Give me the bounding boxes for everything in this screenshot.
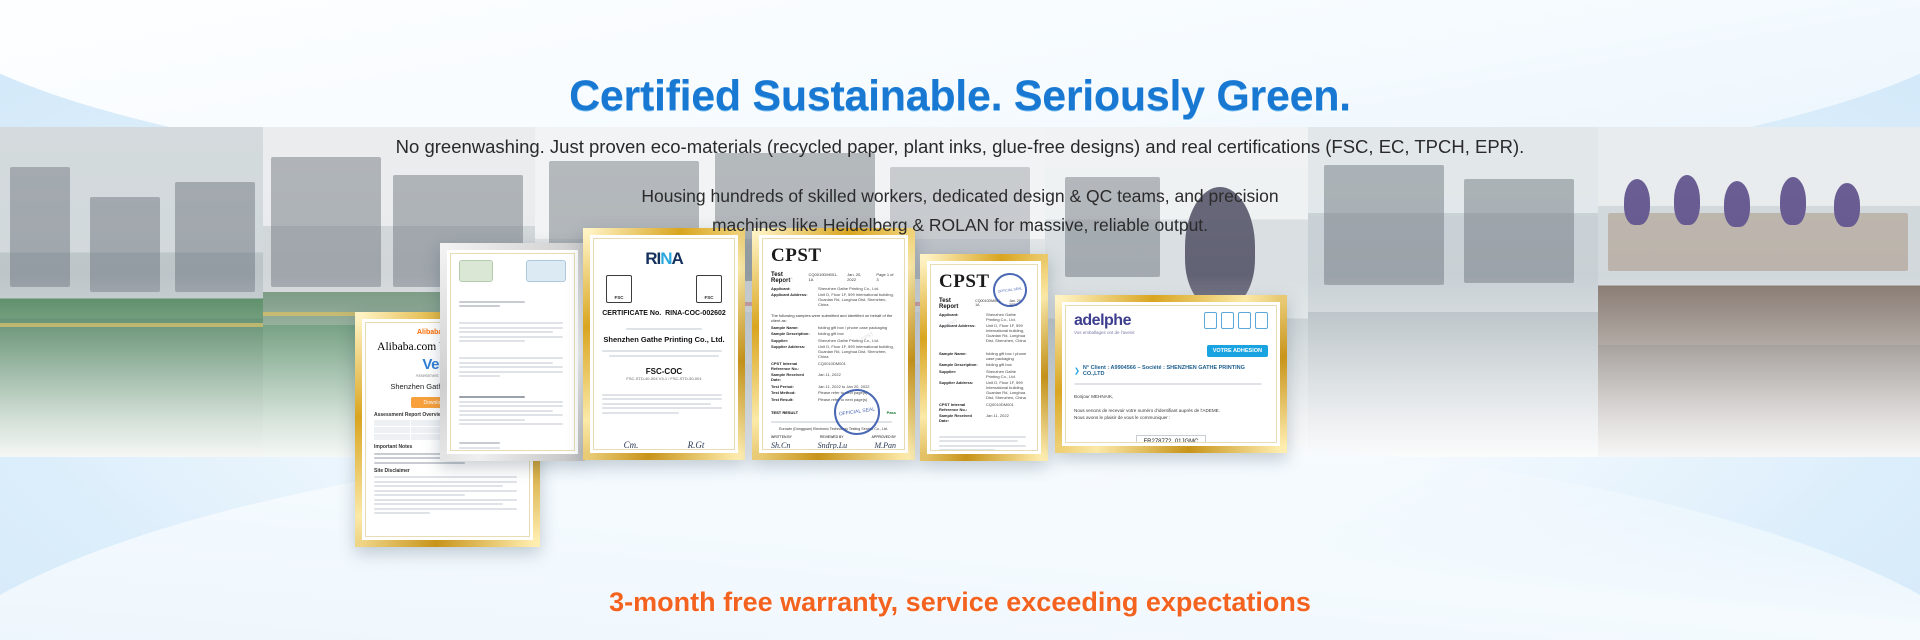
eco-badge-latis xyxy=(459,260,493,282)
adelphe-packaging-icons xyxy=(1204,312,1268,329)
hero-banner: Alibaba.com 1688 Alibaba.com Verified Su… xyxy=(0,0,1920,640)
warranty-banner-text: 3-month free warranty, service exceeding… xyxy=(0,587,1920,618)
cpst-signature-1: Sh.Cn xyxy=(771,441,790,450)
cpst-field-label: Supplier: xyxy=(771,338,815,343)
cpst-intro-1: The following samples were submitted and… xyxy=(771,313,896,323)
page-headline: Certified Sustainable. Seriously Green. xyxy=(0,72,1920,121)
certificate-cpst-test-report-1[interactable]: CPST Test Report CQ0010DM001-1A Jan. 20,… xyxy=(752,228,915,460)
rina-scheme-label: FSC-COC xyxy=(602,367,726,376)
fsc-mark-left: FSC xyxy=(606,275,632,303)
adelphe-reference-number: FR278772_01JGMC xyxy=(1136,435,1205,444)
cpst-field-label: Applicant Address: xyxy=(771,292,815,307)
cpst-page-1: Page 1 of 3 xyxy=(876,272,896,282)
cpst2-field-label: Supplier Address: xyxy=(939,380,983,400)
paragraph-line-1: Housing hundreds of skilled workers, ded… xyxy=(0,182,1920,211)
cpst-field-value: Shenzhen Gathe Printing Co., Ltd. xyxy=(818,338,896,343)
cpst-field-value: folding gift box xyxy=(818,331,896,336)
cpst-field-label: Sample Name: xyxy=(771,325,815,330)
adelphe-tagline: Vos emballages ont de l'avenir xyxy=(1074,330,1135,335)
cpst-field-value: Unit D, Floor 1F, 599 International buil… xyxy=(818,344,896,359)
alibaba-disclaimer-heading: Site Disclaimer xyxy=(374,468,521,474)
cpst-field-label: Test Result: xyxy=(771,397,815,402)
cpst-doc-type-2: Test Report xyxy=(939,298,969,310)
carton-icon xyxy=(1221,312,1234,329)
cpst-field-label: Test Period: xyxy=(771,384,815,389)
cpst-result-label-1: TEST RESULT xyxy=(771,410,798,415)
certificate-cpst-test-report-2[interactable]: CPST Test Report CQ0010DM001-1A Jan. 20,… xyxy=(920,254,1048,461)
cpst2-field-value: Shenzhen Gathe Printing Co., Ltd. xyxy=(986,312,1029,322)
cpst2-field-value: Shenzhen Gathe Printing Co., Ltd. xyxy=(986,369,1029,379)
cpst-field-label: Sample Received Date: xyxy=(771,372,815,382)
cpst2-field-label: Sample Description: xyxy=(939,362,983,367)
cpst-logo-1: CPST xyxy=(771,245,896,267)
cpst2-field-label: Supplier: xyxy=(939,369,983,379)
certificate-eco-assessment[interactable] xyxy=(440,243,585,461)
fsc-marks-row: FSC FSC xyxy=(602,275,726,303)
fsc-mark-right: FSC xyxy=(696,275,722,303)
cpst-field-label: Sample Description: xyxy=(771,331,815,336)
cpst-signoff-written: WRITTEN BY xyxy=(771,435,792,439)
cpst-field-value: Shenzhen Gathe Printing Co., Ltd. xyxy=(818,286,896,291)
cpst-field-value: CQ0010DM001 xyxy=(818,361,896,371)
certificate-adelphe-adhesion[interactable]: adelphe Vos emballages ont de l'avenir V… xyxy=(1055,295,1287,453)
page-paragraph: Housing hundreds of skilled workers, ded… xyxy=(0,182,1920,240)
rina-certificate-value: RINA-COC-002602 xyxy=(665,310,726,317)
cpst2-field-value: Jan 11, 2022 xyxy=(986,413,1029,423)
cpst-field-label: Applicant: xyxy=(771,286,815,291)
cpst2-field-value: folding gift box xyxy=(986,362,1029,367)
cpst2-field-label: Applicant: xyxy=(939,312,983,322)
cpst-field-label: Test Method: xyxy=(771,390,815,395)
adelphe-body-line1: Nous venons de recevoir votre numéro d'i… xyxy=(1074,407,1268,415)
page-subline: No greenwashing. Just proven eco-materia… xyxy=(0,136,1920,158)
cpst-signoff-approved: APPROVED BY xyxy=(872,435,896,439)
adelphe-logo: adelphe xyxy=(1074,312,1135,330)
cpst-field-label: Supplier Address: xyxy=(771,344,815,359)
cpst2-field-label: Applicant Address: xyxy=(939,323,983,343)
cpst-field-value: Jan 11, 2022 to Jan 20, 2022 xyxy=(818,384,896,389)
cpst-field-value: Unit D, Floor 1F, 599 International buil… xyxy=(818,292,896,307)
adelphe-votre-adhesion-button[interactable]: VOTRE ADHESION xyxy=(1207,345,1268,357)
rina-signature-right: R.Gt xyxy=(688,440,705,450)
rina-logo: RINA xyxy=(602,249,726,269)
adelphe-client-line: N° Client : A9904566 – Société : SHENZHE… xyxy=(1083,365,1268,377)
cpst-signoff-reviewed: REVIEWED BY xyxy=(820,435,844,439)
box-icon xyxy=(1255,312,1268,329)
cpst2-field-label: Sample Received Date: xyxy=(939,413,983,423)
rina-certificate-number: CERTIFICATE No. RINA-COC-002602 xyxy=(602,310,726,317)
cpst2-field-value: Unit D, Floor 1F, 599 International buil… xyxy=(986,380,1029,400)
eco-logo-row xyxy=(459,260,566,282)
rina-certificate-label: CERTIFICATE No. xyxy=(602,310,661,317)
cpst2-field-label: CPST Internal Reference No.: xyxy=(939,402,983,412)
cpst-signature-3: M.Pan xyxy=(874,441,896,450)
cpst-doc-type-1: Test Report xyxy=(771,272,803,284)
rina-company-name: Shenzhen Gathe Printing Co., Ltd. xyxy=(602,335,726,344)
cpst2-field-label: Sample Name: xyxy=(939,351,983,361)
cpst-company-footer-1: Eurowin (Dongguan) Electronic Technology… xyxy=(771,427,896,431)
cpst-result-value-1: Pass xyxy=(887,410,896,415)
certificate-rina-fsc-coc[interactable]: RINA FSC FSC CERTIFICATE No. RINA-COC-00… xyxy=(583,228,745,460)
cpst2-field-value: Unit D, Floor 1F, 599 International buil… xyxy=(986,323,1029,343)
cpst-field-value: Jan 11, 2022 xyxy=(818,372,896,382)
adelphe-body-line2: Nous avons le plaisir de vous le communi… xyxy=(1074,414,1268,422)
cpst2-field-value: CQ0010DM001 xyxy=(986,402,1029,412)
cpst-report-no-1: CQ0010DM001-1A xyxy=(809,272,842,282)
can-icon xyxy=(1238,312,1251,329)
bottle-icon xyxy=(1204,312,1217,329)
cpst-field-value: folding gift box / phone case packaging xyxy=(818,325,896,330)
cpst-field-label: CPST Internal Reference No.: xyxy=(771,361,815,371)
chevron-right-icon: ❯ xyxy=(1074,367,1080,375)
eco-badge-sustainable-study xyxy=(526,260,566,282)
cpst-date-1: Jan. 20, 2022 xyxy=(847,272,870,282)
cpst-signature-2: Sndrp.Lu xyxy=(818,441,848,450)
rina-signature-left: Cm. xyxy=(624,440,639,450)
adelphe-logo-block: adelphe Vos emballages ont de l'avenir xyxy=(1074,312,1135,335)
cpst2-field-value: folding gift box / phone case packaging xyxy=(986,351,1029,361)
paragraph-line-2: machines like Heidelberg & ROLAN for mas… xyxy=(0,211,1920,240)
adelphe-greeting: Bonjour MEHNAIK, xyxy=(1074,393,1268,401)
